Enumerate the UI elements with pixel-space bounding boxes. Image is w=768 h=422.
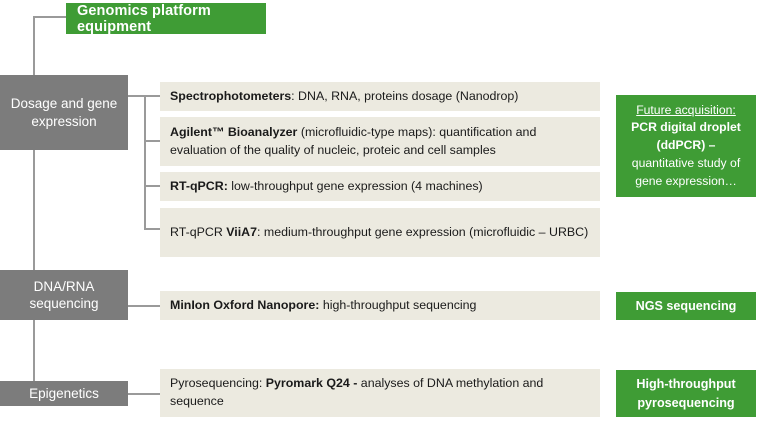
item-text: MinIon Oxford Nanopore: high-throughput … [170, 297, 476, 315]
connector-stub-viia7 [144, 228, 161, 230]
item-agilent-bioanalyzer[interactable]: Agilent™ Bioanalyzer (microfluidic-type … [160, 117, 600, 166]
connector-stub-agilent [144, 140, 161, 142]
category-dosage-and-gene-expression[interactable]: Dosage and gene expression [0, 75, 128, 150]
side-note-bold: PCR digital droplet (ddPCR) – [631, 120, 741, 152]
item-text: Agilent™ Bioanalyzer (microfluidic-type … [170, 124, 590, 159]
connector-sequencing-out [128, 305, 161, 307]
category-epigenetics[interactable]: Epigenetics [0, 381, 128, 406]
category-label: DNA/RNA sequencing [6, 278, 122, 313]
side-note-plain: quantitative study of gene expression… [632, 156, 740, 188]
side-note-high-throughput-pyrosequencing[interactable]: High-throughput pyrosequencing [616, 370, 756, 417]
item-rest: : medium-throughput gene expression (mic… [257, 225, 588, 239]
item-rt-qpcr-viia7[interactable]: RT-qPCR ViiA7: medium-throughput gene ex… [160, 208, 600, 257]
item-minion-oxford-nanopore[interactable]: MinIon Oxford Nanopore: high-throughput … [160, 291, 600, 320]
item-prefix: RT-qPCR [170, 225, 226, 239]
item-rest: high-throughput sequencing [319, 298, 476, 312]
category-dna-rna-sequencing[interactable]: DNA/RNA sequencing [0, 270, 128, 320]
side-note-underlined: Future acquisition: [636, 103, 736, 117]
item-text: Pyrosequencing: Pyromark Q24 - analyses … [170, 375, 590, 410]
item-bold-lead: Spectrophotometers [170, 89, 291, 103]
item-rest: low-throughput gene expression (4 machin… [228, 179, 483, 193]
connector-stub-spectro [144, 95, 161, 97]
side-note-ngs-sequencing[interactable]: NGS sequencing [616, 292, 756, 320]
page-title: Genomics platform equipment [66, 3, 266, 34]
connector-dosage-vertical [144, 95, 146, 229]
item-pyrosequencing[interactable]: Pyrosequencing: Pyromark Q24 - analyses … [160, 369, 600, 417]
page-title-label: Genomics platform equipment [77, 3, 266, 35]
item-text: RT-qPCR: low-throughput gene expression … [170, 178, 483, 196]
item-spectrophotometers[interactable]: Spectrophotometers: DNA, RNA, proteins d… [160, 82, 600, 111]
item-bold-lead: Agilent™ Bioanalyzer [170, 125, 297, 139]
connector-stub-rtqpcr [144, 185, 161, 187]
item-text: Spectrophotometers: DNA, RNA, proteins d… [170, 88, 518, 106]
item-bold-lead: ViiA7 [226, 225, 257, 239]
item-rt-qpcr[interactable]: RT-qPCR: low-throughput gene expression … [160, 172, 600, 201]
item-prefix: Pyrosequencing: [170, 376, 266, 390]
category-label: Dosage and gene expression [6, 95, 122, 130]
side-note-text: Future acquisition:PCR digital droplet (… [622, 102, 750, 190]
side-note-label: High-throughput pyrosequencing [622, 375, 750, 412]
connector-epigenetics-out [128, 393, 161, 395]
item-rest: : DNA, RNA, proteins dosage (Nanodrop) [291, 89, 518, 103]
item-bold-lead: MinIon Oxford Nanopore: [170, 298, 319, 312]
item-bold-lead: RT-qPCR: [170, 179, 228, 193]
category-label: Epigenetics [29, 385, 99, 402]
item-bold-lead: Pyromark Q24 - [266, 376, 358, 390]
diagram-canvas: Genomics platform equipment Dosage and g… [0, 0, 768, 422]
connector-main-spine [33, 16, 35, 394]
side-note-label: NGS sequencing [636, 297, 737, 315]
item-text: RT-qPCR ViiA7: medium-throughput gene ex… [170, 224, 588, 242]
connector-title-horizontal [33, 16, 68, 18]
side-note-future-acquisition[interactable]: Future acquisition:PCR digital droplet (… [616, 95, 756, 197]
